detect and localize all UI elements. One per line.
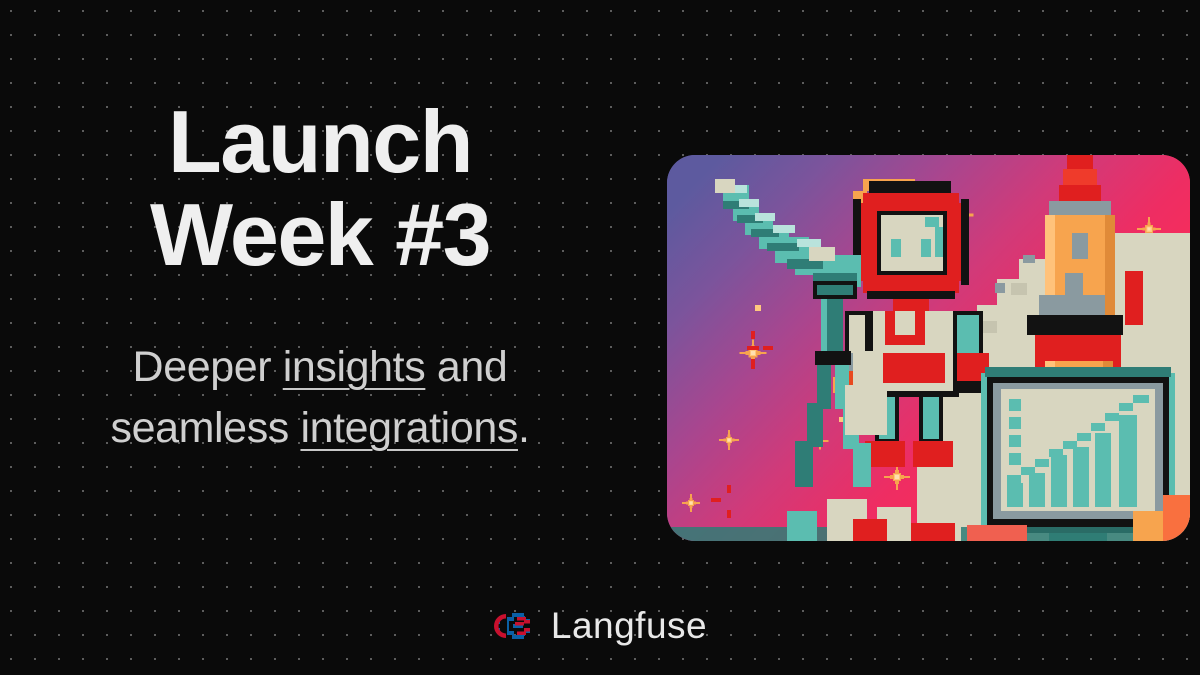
subtitle-highlight-insights: insights — [283, 343, 426, 391]
artwork-card — [667, 155, 1190, 541]
brand-lockup: Langfuse — [0, 605, 1200, 647]
brand-name: Langfuse — [551, 605, 707, 647]
hero-subtitle: Deeper insights and seamless integration… — [40, 337, 600, 459]
langfuse-logo-icon — [493, 611, 535, 641]
subtitle-text-after: . — [518, 404, 530, 452]
subtitle-highlight-integrations: integrations — [300, 404, 518, 452]
page-title: Launch Week #3 — [150, 95, 490, 282]
pixel-art-scene — [667, 155, 1190, 541]
subtitle-text-before: Deeper — [133, 343, 283, 391]
hero-copy: Launch Week #3 Deeper insights and seaml… — [0, 0, 640, 560]
launch-week-poster: Launch Week #3 Deeper insights and seaml… — [0, 0, 1200, 675]
